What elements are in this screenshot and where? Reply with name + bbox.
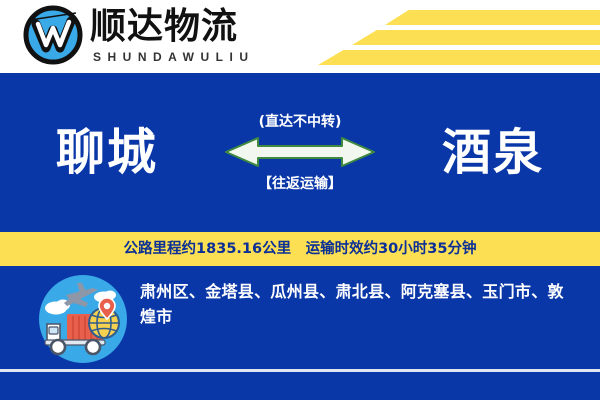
route-section: 聊城 (直达不中转) 【往返运输】 酒泉 (0, 73, 600, 232)
logistics-route-banner: 顺达物流 SHUNDAWULIU 聊城 (直达不中转) 【往返运输】 酒泉 公路… (0, 0, 600, 400)
stripe-1 (385, 10, 600, 25)
decorative-stripes (310, 0, 600, 73)
brand-name-en: SHUNDAWULIU (93, 49, 255, 65)
bottom-strip (0, 372, 600, 400)
truck-plane-globe-icon (36, 272, 130, 366)
route-note-roundtrip: 【往返运输】 (258, 175, 342, 193)
double-headed-arrow-icon (224, 135, 376, 169)
stripe-2 (352, 30, 600, 45)
route-note-direct: (直达不中转) (259, 113, 342, 131)
origin-city: 聊城 (56, 124, 158, 182)
distance-duration-text: 公路里程约1835.16公里 运输时效约30小时35分钟 (124, 239, 477, 259)
swoosh-circle-logo-icon (22, 4, 84, 66)
destination-city: 酒泉 (442, 124, 544, 182)
coverage-areas-text: 肃州区、金塔县、瓜州县、肃北县、阿克塞县、玉门市、敦煌市 (140, 279, 574, 329)
stripe-3 (318, 50, 600, 65)
distance-duration-band: 公路里程约1835.16公里 运输时效约30小时35分钟 (0, 232, 600, 266)
brand-logo-block: 顺达物流 SHUNDAWULIU (22, 4, 255, 66)
brand-wordmark: 顺达物流 SHUNDAWULIU (90, 4, 255, 65)
brand-name-cn: 顺达物流 (90, 6, 255, 48)
route-connector: (直达不中转) 【往返运输】 (210, 113, 390, 193)
banner-header: 顺达物流 SHUNDAWULIU (0, 0, 600, 73)
coverage-section: 肃州区、金塔县、瓜州县、肃北县、阿克塞县、玉门市、敦煌市 (0, 266, 600, 369)
